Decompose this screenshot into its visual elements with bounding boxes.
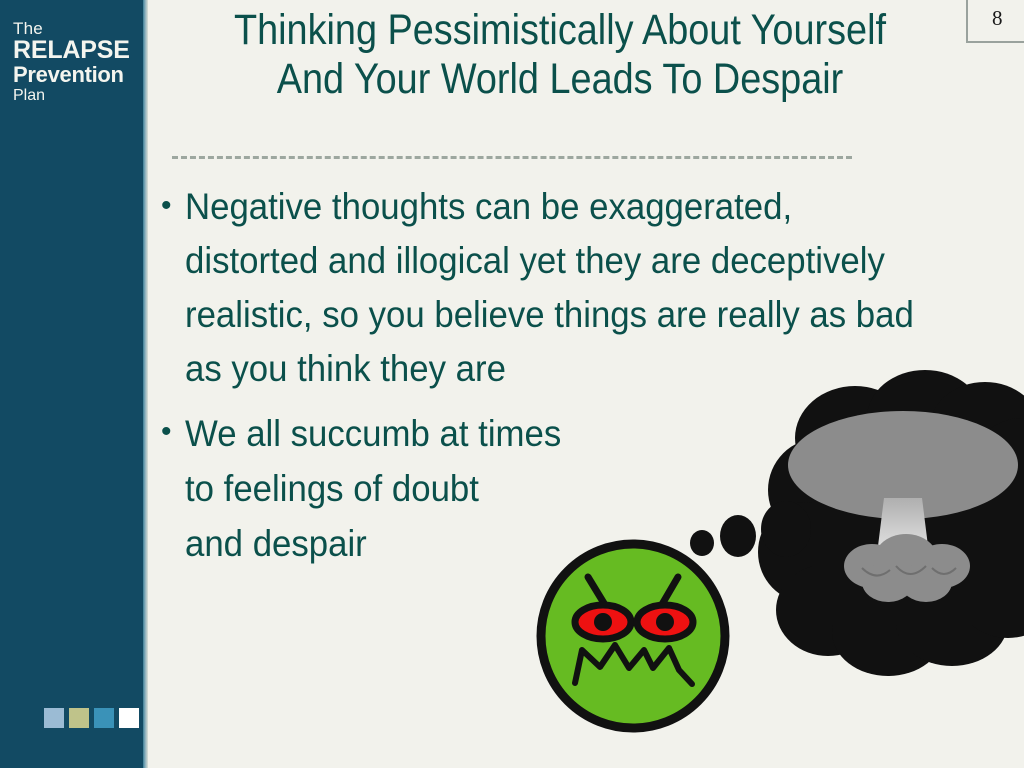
brand-logo: The RELAPSE Prevention Plan: [13, 20, 141, 104]
list-item: • We all succumb at times to feelings of…: [155, 406, 1005, 571]
bullet-text: Negative thoughts can be exaggerated, di…: [185, 180, 956, 396]
eye-right: [637, 605, 693, 639]
bullet-text: We all succumb at times to feelings of d…: [185, 406, 956, 571]
color-swatch-row: [44, 708, 139, 728]
mouth-zigzag: [575, 645, 692, 684]
swatch-teal: [94, 708, 114, 728]
logo-line-plan: Plan: [13, 88, 141, 104]
swatch-white: [119, 708, 139, 728]
pupil-right: [656, 613, 674, 631]
page-number: 8: [992, 6, 1003, 31]
title-divider: [172, 156, 852, 159]
logo-line-the: The: [13, 20, 141, 37]
page-number-box: 8: [966, 0, 1024, 43]
swatch-light-blue: [44, 708, 64, 728]
bullet-marker: •: [155, 406, 185, 458]
list-item: • Negative thoughts can be exaggerated, …: [155, 180, 1005, 396]
logo-line-relapse: RELAPSE: [13, 38, 141, 63]
sidebar-edge-divider: [143, 0, 148, 768]
slide-canvas: The RELAPSE Prevention Plan 8 Thinking P…: [0, 0, 1024, 768]
pupil-left: [594, 613, 612, 631]
eyebrow-left: [588, 577, 613, 618]
bullet-list: • Negative thoughts can be exaggerated, …: [155, 180, 1005, 581]
bullet-marker: •: [155, 180, 185, 232]
logo-line-prevention: Prevention: [13, 64, 141, 86]
eyebrow-right: [654, 577, 678, 618]
sidebar: [0, 0, 143, 768]
eye-left: [575, 605, 631, 639]
swatch-khaki: [69, 708, 89, 728]
page-title: Thinking Pessimistically About Yourself …: [208, 6, 912, 104]
